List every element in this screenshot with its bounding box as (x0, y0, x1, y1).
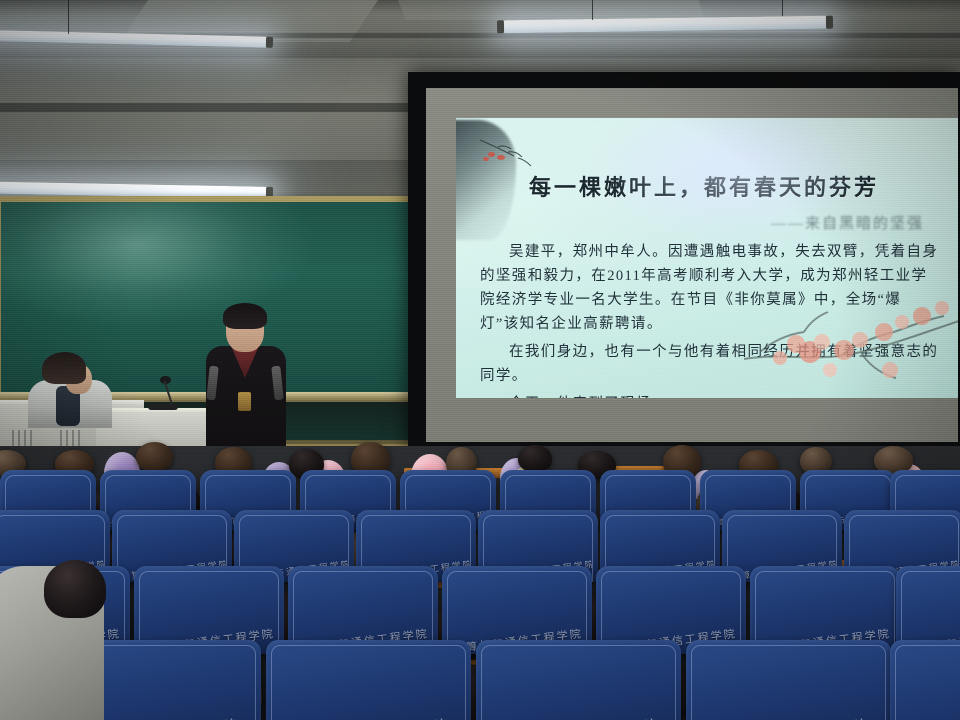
auditorium-seat[interactable]: 计算机与通信工程学院 (686, 640, 891, 720)
light-suspension-wire (68, 0, 69, 34)
auditorium-seat[interactable]: 计算机与通信工程学院 (266, 640, 471, 720)
seated-host (22, 352, 118, 422)
projection-screen: 每一棵嫩叶上，都有春天的芬芳 ——来自黑暗的坚强 吴建平，郑州中牟人。因遭遇触电… (408, 72, 960, 454)
lecture-hall-photo: 每一棵嫩叶上，都有春天的芬芳 ——来自黑暗的坚强 吴建平，郑州中牟人。因遭遇触电… (0, 0, 960, 720)
foreground-attendee-head (44, 560, 106, 618)
microphone-base (148, 404, 178, 410)
slide-title: 每一棵嫩叶上，都有春天的芬芳 (456, 170, 952, 202)
seat-cover-text: 计算机与通信工程学院 (904, 713, 960, 720)
blossom-dot (497, 155, 505, 160)
audience-head (136, 442, 173, 471)
presentation-slide: 每一棵嫩叶上，都有春天的芬芳 ——来自黑暗的坚强 吴建平，郑州中牟人。因遭遇触电… (456, 118, 958, 398)
light-suspension-wire (782, 0, 783, 16)
plum-branch-top-left-icon (478, 136, 534, 174)
blossom-dot (488, 152, 495, 157)
slide-subtitle: ——来自黑暗的坚强 (771, 212, 924, 233)
seat-cover-text: 计算机与通信工程学院 (280, 713, 462, 720)
seat-cover-text: 计算机与通信工程学院 (700, 713, 882, 720)
ceiling-diagonal-beam-secondary (395, 0, 706, 20)
blossom-dot (483, 157, 489, 161)
light-suspension-wire (592, 0, 593, 20)
auditorium-seat[interactable]: 计算机与通信工程学院 (476, 640, 681, 720)
auditorium-seat[interactable]: 计算机与通信工程学院 (890, 640, 960, 720)
audience-head (518, 445, 552, 472)
seat-cover-text: 计算机与通信工程学院 (490, 713, 672, 720)
plum-blossom-branch-icon (744, 274, 958, 398)
projection-screen-mat: 每一棵嫩叶上，都有春天的芬芳 ——来自黑暗的坚强 吴建平，郑州中牟人。因遭遇触电… (426, 88, 958, 442)
